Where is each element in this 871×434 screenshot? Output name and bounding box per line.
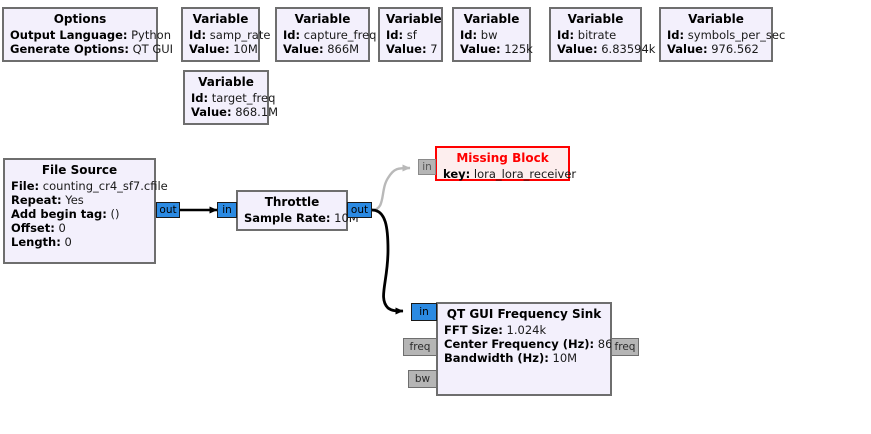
block-throttle[interactable]: Throttle Sample Rate: 10M	[236, 190, 348, 231]
freq-sink-center-frequency-key: Center Frequency (Hz):	[444, 337, 594, 351]
variable-sf-id-value: sf	[407, 28, 417, 42]
block-options[interactable]: Options Output Language: Python Generate…	[2, 7, 158, 62]
file-source-length-value: 0	[65, 235, 72, 249]
variable-samp-rate-value-row: Value: 10M	[189, 42, 252, 56]
freq-sink-row-center-frequency: Center Frequency (Hz): 866M	[444, 337, 604, 351]
freq-sink-freq-msg-in-port[interactable]: freq	[403, 338, 437, 356]
variable-target-freq-value-row: Value: 868.1M	[191, 105, 261, 119]
variable-bw-value-value: 125k	[504, 42, 533, 56]
file-source-repeat-value: Yes	[65, 193, 84, 207]
block-variable-samp-rate[interactable]: Variable Id: samp_rate Value: 10M	[181, 7, 260, 62]
variable-symbols-per-sec-value-value: 976.562	[711, 42, 759, 56]
variable-sf-title: Variable	[386, 12, 435, 28]
variable-symbols-per-sec-id-key: Id:	[667, 28, 684, 42]
file-source-file-value: counting_cr4_sf7.cfile	[43, 179, 168, 193]
file-source-row-offset: Offset: 0	[11, 221, 148, 235]
block-options-row-generate-options: Generate Options: QT GUI	[10, 42, 150, 56]
variable-bw-id-key: Id:	[460, 28, 477, 42]
freq-sink-row-fft-size: FFT Size: 1.024k	[444, 323, 604, 337]
variable-samp-rate-value-value: 10M	[233, 42, 258, 56]
file-source-repeat-key: Repeat:	[11, 193, 62, 207]
wire-throttle-to-freqsink	[372, 210, 403, 311]
block-missing-lora-receiver[interactable]: Missing Block key: lora_lora_receiver	[435, 146, 570, 181]
file-source-title: File Source	[11, 163, 148, 179]
variable-target-freq-id-row: Id: target_freq	[191, 91, 261, 105]
variable-samp-rate-title: Variable	[189, 12, 252, 28]
freq-sink-in-port[interactable]: in	[411, 303, 437, 321]
variable-capture-freq-value-value: 866M	[327, 42, 359, 56]
variable-sf-id-key: Id:	[386, 28, 403, 42]
block-variable-sf[interactable]: Variable Id: sf Value: 7	[378, 7, 443, 62]
block-variable-symbols-per-sec[interactable]: Variable Id: symbols_per_sec Value: 976.…	[659, 7, 773, 62]
variable-bw-id-value: bw	[481, 28, 498, 42]
variable-symbols-per-sec-value-key: Value:	[667, 42, 708, 56]
freq-sink-row-bandwidth: Bandwidth (Hz): 10M	[444, 351, 604, 365]
block-variable-bitrate[interactable]: Variable Id: bitrate Value: 6.83594k	[549, 7, 642, 62]
variable-sf-id-row: Id: sf	[386, 28, 435, 42]
variable-target-freq-id-value: target_freq	[212, 91, 276, 105]
file-source-row-file: File: counting_cr4_sf7.cfile	[11, 179, 148, 193]
freq-sink-freq-msg-out-port[interactable]: freq	[611, 338, 639, 356]
options-generate-options-key: Generate Options:	[10, 42, 129, 56]
file-source-file-key: File:	[11, 179, 39, 193]
freq-sink-title: QT GUI Frequency Sink	[444, 307, 604, 323]
missing-block-row-key: key: lora_lora_receiver	[443, 167, 562, 181]
variable-samp-rate-id-value: samp_rate	[210, 28, 271, 42]
variable-target-freq-value-key: Value:	[191, 105, 232, 119]
file-source-row-add-begin-tag: Add begin tag: ()	[11, 207, 148, 221]
variable-capture-freq-title: Variable	[283, 12, 362, 28]
variable-bitrate-value-value: 6.83594k	[601, 42, 655, 56]
variable-target-freq-value-value: 868.1M	[235, 105, 278, 119]
block-options-title: Options	[10, 12, 150, 28]
block-variable-target-freq[interactable]: Variable Id: target_freq Value: 868.1M	[183, 70, 269, 125]
file-source-add-begin-tag-value: ()	[111, 207, 120, 221]
variable-bitrate-id-key: Id:	[557, 28, 574, 42]
options-output-language-key: Output Language:	[10, 28, 127, 42]
block-qt-gui-frequency-sink[interactable]: QT GUI Frequency Sink FFT Size: 1.024k C…	[436, 302, 612, 396]
options-generate-options-value: QT GUI	[133, 42, 173, 56]
block-file-source[interactable]: File Source File: counting_cr4_sf7.cfile…	[3, 158, 156, 264]
variable-bw-id-row: Id: bw	[460, 28, 523, 42]
missing-block-key-value: lora_lora_receiver	[474, 167, 576, 181]
missing-block-title: Missing Block	[443, 151, 562, 167]
wire-throttle-to-missingblock	[372, 168, 410, 210]
variable-capture-freq-id-value: capture_freq	[304, 28, 377, 42]
variable-samp-rate-id-key: Id:	[189, 28, 206, 42]
throttle-title: Throttle	[244, 195, 340, 211]
variable-target-freq-id-key: Id:	[191, 91, 208, 105]
variable-bitrate-id-value: bitrate	[578, 28, 616, 42]
file-source-add-begin-tag-key: Add begin tag:	[11, 207, 107, 221]
throttle-in-port[interactable]: in	[217, 202, 237, 218]
block-variable-bw[interactable]: Variable Id: bw Value: 125k	[452, 7, 531, 62]
variable-bw-title: Variable	[460, 12, 523, 28]
variable-bw-value-row: Value: 125k	[460, 42, 523, 56]
missing-block-in-port[interactable]: in	[418, 159, 436, 175]
variable-capture-freq-id-key: Id:	[283, 28, 300, 42]
variable-symbols-per-sec-title: Variable	[667, 12, 765, 28]
freq-sink-bandwidth-key: Bandwidth (Hz):	[444, 351, 549, 365]
block-variable-capture-freq[interactable]: Variable Id: capture_freq Value: 866M	[275, 7, 370, 62]
variable-samp-rate-value-key: Value:	[189, 42, 230, 56]
variable-symbols-per-sec-id-row: Id: symbols_per_sec	[667, 28, 765, 42]
freq-sink-bw-msg-in-port[interactable]: bw	[408, 370, 437, 388]
variable-bitrate-value-row: Value: 6.83594k	[557, 42, 634, 56]
variable-sf-value-key: Value:	[386, 42, 427, 56]
file-source-offset-key: Offset:	[11, 221, 55, 235]
variable-bitrate-title: Variable	[557, 12, 634, 28]
variable-target-freq-title: Variable	[191, 75, 261, 91]
flowgraph-canvas[interactable]: Options Output Language: Python Generate…	[0, 0, 871, 434]
freq-sink-fft-size-value: 1.024k	[507, 323, 547, 337]
file-source-out-port[interactable]: out	[156, 202, 180, 218]
variable-sf-value-value: 7	[430, 42, 437, 56]
file-source-row-repeat: Repeat: Yes	[11, 193, 148, 207]
variable-bitrate-value-key: Value:	[557, 42, 598, 56]
variable-bw-value-key: Value:	[460, 42, 501, 56]
throttle-sample-rate-key: Sample Rate:	[244, 211, 331, 225]
variable-samp-rate-id-row: Id: samp_rate	[189, 28, 252, 42]
variable-bitrate-id-row: Id: bitrate	[557, 28, 634, 42]
freq-sink-fft-size-key: FFT Size:	[444, 323, 503, 337]
file-source-offset-value: 0	[59, 221, 66, 235]
throttle-out-port[interactable]: out	[347, 202, 372, 218]
throttle-row-sample-rate: Sample Rate: 10M	[244, 211, 340, 225]
variable-sf-value-row: Value: 7	[386, 42, 435, 56]
missing-block-key-key: key:	[443, 167, 470, 181]
options-output-language-value: Python	[131, 28, 171, 42]
freq-sink-bandwidth-value: 10M	[553, 351, 578, 365]
block-options-row-output-language: Output Language: Python	[10, 28, 150, 42]
variable-capture-freq-value-key: Value:	[283, 42, 324, 56]
variable-capture-freq-value-row: Value: 866M	[283, 42, 362, 56]
file-source-row-length: Length: 0	[11, 235, 148, 249]
file-source-length-key: Length:	[11, 235, 61, 249]
variable-symbols-per-sec-id-value: symbols_per_sec	[688, 28, 786, 42]
variable-capture-freq-id-row: Id: capture_freq	[283, 28, 362, 42]
variable-symbols-per-sec-value-row: Value: 976.562	[667, 42, 765, 56]
